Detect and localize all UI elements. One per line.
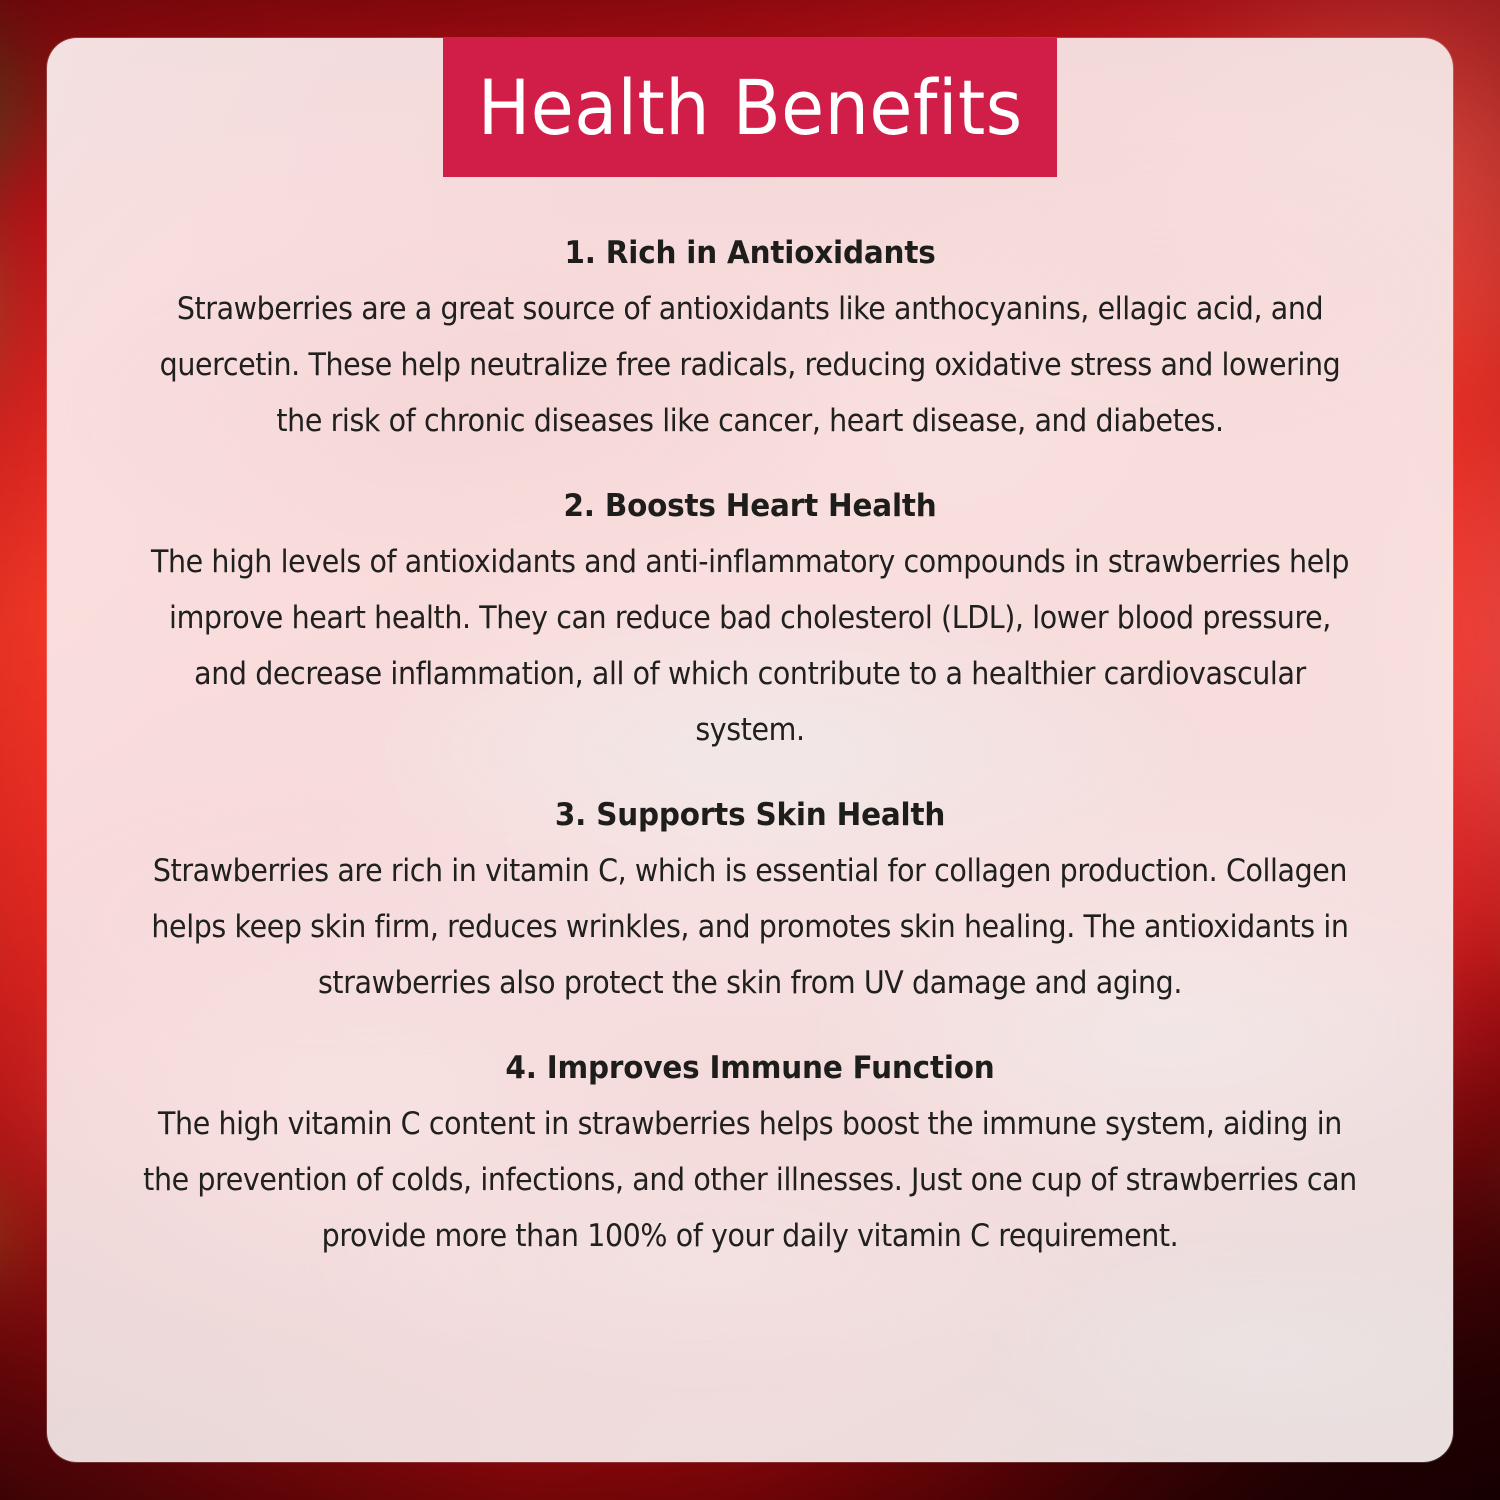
- benefit-heading-1: 1. Rich in Antioxidants: [103, 234, 1397, 273]
- title-banner: Health Benefits: [443, 38, 1057, 177]
- benefit-heading-4: 4. Improves Immune Function: [103, 1049, 1397, 1088]
- benefit-body-2: The high levels of antioxidants and anti…: [140, 534, 1360, 758]
- benefit-heading-3: 3. Supports Skin Health: [103, 796, 1397, 835]
- benefit-section-4: 4. Improves Immune Function The high vit…: [69, 1049, 1431, 1264]
- benefits-list: 1. Rich in Antioxidants Strawberries are…: [47, 177, 1453, 1264]
- infographic-canvas: Health Benefits 1. Rich in Antioxidants …: [0, 0, 1500, 1500]
- benefit-body-3: Strawberries are rich in vitamin C, whic…: [140, 843, 1360, 1011]
- page-title: Health Benefits: [478, 70, 1023, 146]
- benefit-section-2: 2. Boosts Heart Health The high levels o…: [69, 487, 1431, 758]
- benefit-section-3: 3. Supports Skin Health Strawberries are…: [69, 796, 1431, 1011]
- content-card: Health Benefits 1. Rich in Antioxidants …: [47, 38, 1453, 1462]
- benefit-section-1: 1. Rich in Antioxidants Strawberries are…: [69, 234, 1431, 449]
- benefit-body-4: The high vitamin C content in strawberri…: [140, 1096, 1360, 1264]
- benefit-body-1: Strawberries are a great source of antio…: [140, 281, 1360, 449]
- card-inner: Health Benefits 1. Rich in Antioxidants …: [47, 38, 1453, 1462]
- benefit-heading-2: 2. Boosts Heart Health: [103, 487, 1397, 526]
